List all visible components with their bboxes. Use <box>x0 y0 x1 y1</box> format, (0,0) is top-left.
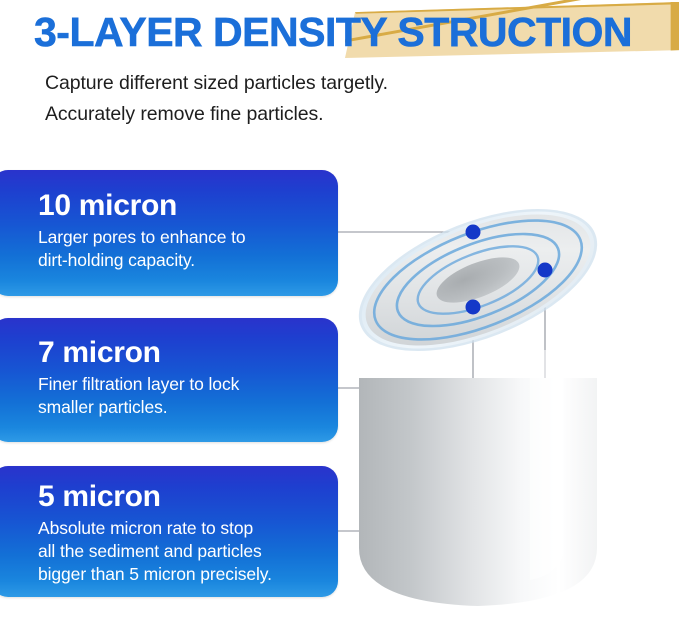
marker-10-micron <box>466 225 481 240</box>
callout-2-body: Finer filtration layer to lock smaller p… <box>38 373 320 419</box>
filter-cartridge-illustration <box>350 150 679 624</box>
callout-3-body: Absolute micron rate to stop all the sed… <box>38 517 320 586</box>
callout-box-7-micron[interactable]: 7 micron Finer filtration layer to lock … <box>0 318 338 442</box>
callout-2-body-line-1: Finer filtration layer to lock <box>38 373 320 396</box>
callout-3-body-line-3: bigger than 5 micron precisely. <box>38 563 320 586</box>
subtitle-line-1: Capture different sized particles target… <box>45 68 565 99</box>
subtitle-block: Capture different sized particles target… <box>45 68 565 130</box>
callout-2-body-line-2: smaller particles. <box>38 396 320 419</box>
callout-1-heading: 10 micron <box>38 189 320 223</box>
page-title: 3-LAYER DENSITY STRUCTION <box>34 6 674 58</box>
marker-5-micron <box>538 263 553 278</box>
callout-3-heading: 5 micron <box>38 480 320 514</box>
callout-3-body-line-2: all the sediment and particles <box>38 540 320 563</box>
callout-box-5-micron[interactable]: 5 micron Absolute micron rate to stop al… <box>0 466 338 597</box>
callout-2-heading: 7 micron <box>38 336 320 370</box>
cartridge-top-face <box>350 180 616 380</box>
cartridge-highlight <box>530 350 564 580</box>
callout-3-content: 5 micron Absolute micron rate to stop al… <box>38 480 320 586</box>
callout-1-body-line-1: Larger pores to enhance to <box>38 226 320 249</box>
subtitle-line-2: Accurately remove fine particles. <box>45 99 565 130</box>
callout-1-body: Larger pores to enhance to dirt-holding … <box>38 226 320 272</box>
marker-7-micron <box>466 300 481 315</box>
callout-1-body-line-2: dirt-holding capacity. <box>38 249 320 272</box>
callout-3-body-line-1: Absolute micron rate to stop <box>38 517 320 540</box>
callout-2-content: 7 micron Finer filtration layer to lock … <box>38 336 320 419</box>
header: 3-LAYER DENSITY STRUCTION <box>0 0 679 70</box>
callout-1-content: 10 micron Larger pores to enhance to dir… <box>38 189 320 272</box>
callout-box-10-micron[interactable]: 10 micron Larger pores to enhance to dir… <box>0 170 338 296</box>
